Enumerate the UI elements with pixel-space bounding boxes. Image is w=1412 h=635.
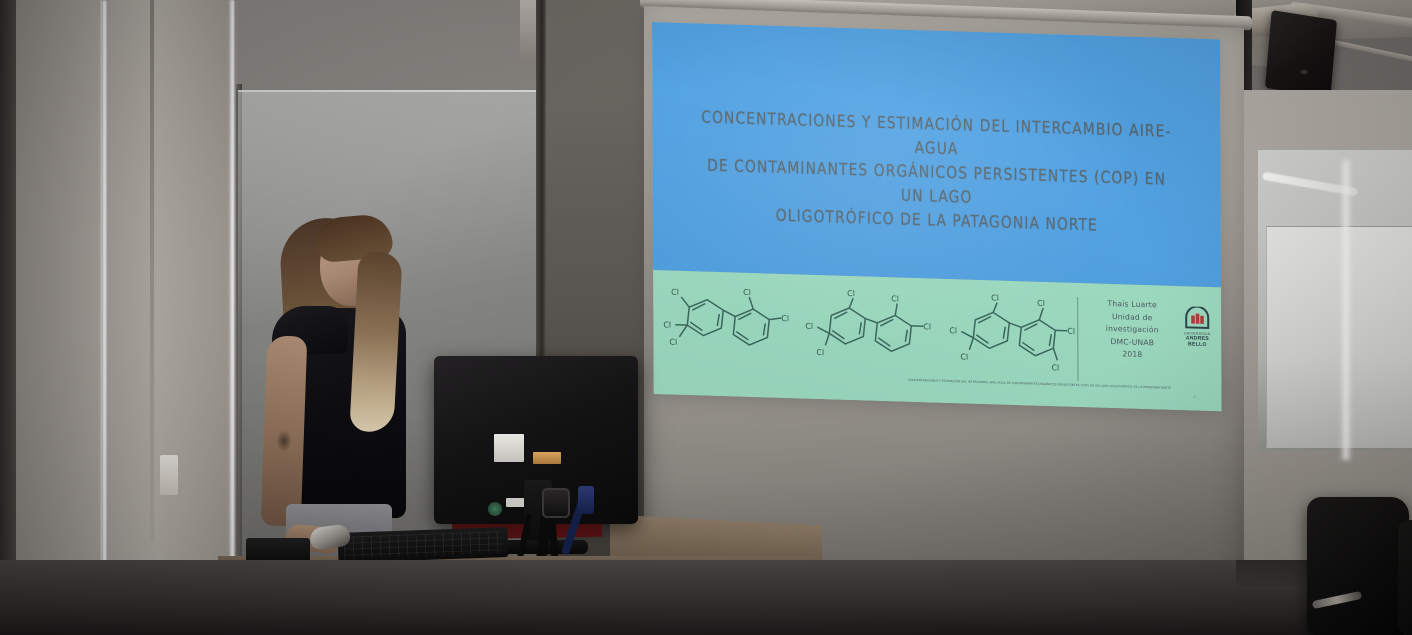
cl-label: Cl [923,322,931,331]
monitor-asset-sticker [494,434,524,462]
cable-clip[interactable] [542,488,570,518]
cl-label: Cl [1037,299,1045,308]
pcb-structure-2: Cl Cl Cl Cl Cl [803,285,935,381]
pillar-edge [150,0,154,540]
presenter [258,208,448,560]
monitor-barcode-sticker [533,452,561,464]
presenter-hair-side [349,251,402,433]
ceiling-speaker [1265,10,1337,98]
cl-label: Cl [991,293,999,302]
cl-label: Cl [663,320,671,329]
wall-pillar [108,0,234,635]
pcb-structure-1: Cl Cl Cl Cl Cl [659,280,791,376]
pcb-structure-3: Cl Cl Cl Cl Cl Cl [947,289,1079,385]
cl-label: Cl [847,289,855,298]
speaker-badge-icon [1300,70,1308,74]
office-chair[interactable] [1307,497,1409,635]
floor [0,560,1412,635]
cl-label: Cl [949,326,957,335]
wall-outlet-plate[interactable] [160,455,178,495]
projected-slide: CONCENTRACIONES Y ESTIMACIÓN DEL INTERCA… [652,22,1222,411]
cl-label: Cl [891,294,899,303]
slide-page-number: 1 [1194,395,1196,399]
cl-label: Cl [1067,327,1075,336]
cl-label: Cl [781,314,789,323]
university-logo: UNIVERSIDAD ANDRES BELLO [1177,306,1217,348]
window-glare [1340,160,1352,460]
credits-unit: Unidad de investigación [1085,310,1179,338]
cl-label: Cl [669,338,677,347]
left-wall [16,0,102,635]
office-chair-secondary[interactable] [1398,520,1412,635]
lecture-room-photo: CONCENTRACIONES Y ESTIMACIÓN DEL INTERCA… [0,0,1412,635]
cl-label: Cl [805,322,813,331]
unab-crest-icon [1182,306,1212,331]
cl-label: Cl [671,288,679,297]
pcb-structures-group: Cl Cl Cl Cl Cl [659,278,1079,387]
slide-title: CONCENTRACIONES Y ESTIMACIÓN DEL INTERCA… [700,105,1173,240]
cl-label: Cl [1051,363,1059,372]
logo-name-label: ANDRES BELLO [1177,335,1217,348]
vga-connector[interactable] [578,486,594,514]
audio-connector[interactable] [488,502,502,516]
wall-cable [168,495,170,555]
slide-credits: Thais Luarte Unidad de investigación DMC… [1085,297,1179,362]
window-light-strip-right [229,0,236,635]
whiteboard [1266,226,1412,448]
presenter-tattoo [276,430,292,452]
cl-label: Cl [743,288,751,297]
cl-label: Cl [960,352,968,361]
cl-label: Cl [816,348,824,357]
